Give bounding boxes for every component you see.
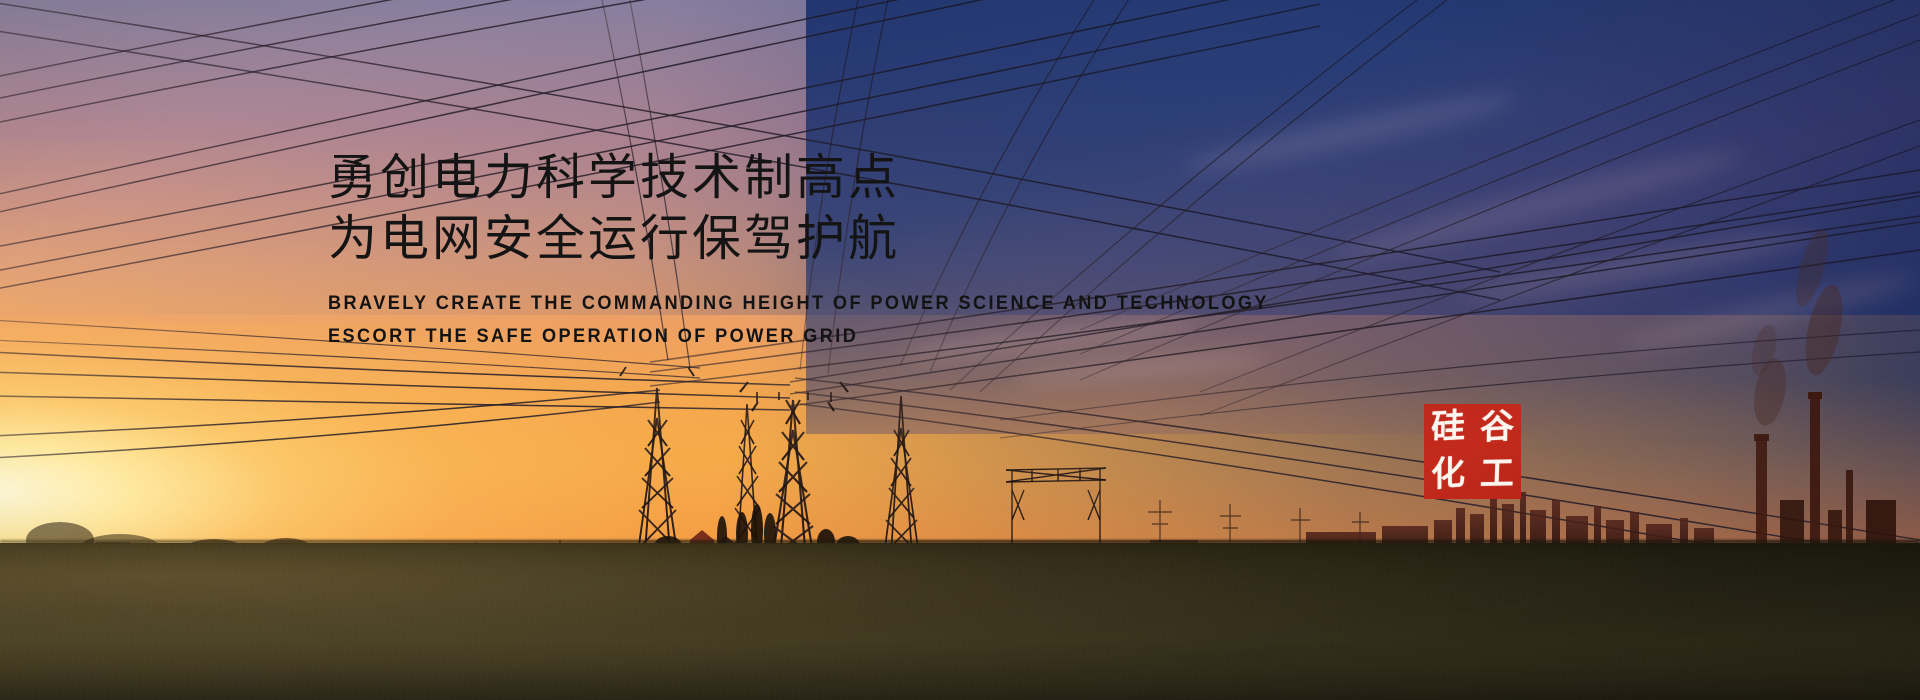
subheadline-line-2: ESCORT THE SAFE OPERATION OF POWER GRID [328, 320, 1332, 353]
horizon-line [0, 540, 1920, 543]
subheadline-block: BRAVELY CREATE THE COMMANDING HEIGHT OF … [328, 287, 1408, 353]
logo-char-1: 硅 [1431, 410, 1466, 446]
logo-character-grid: 硅 谷 化 工 [1424, 404, 1521, 499]
subheadline-line-1: BRAVELY CREATE THE COMMANDING HEIGHT OF … [328, 287, 1332, 320]
logo-char-2: 谷 [1479, 410, 1514, 446]
company-logo-stamp[interactable]: 硅 谷 化 工 [1424, 404, 1521, 499]
logo-char-4: 工 [1479, 458, 1514, 493]
field-ground [0, 543, 1920, 700]
logo-char-3: 化 [1431, 457, 1465, 494]
field-shading [0, 543, 1920, 700]
power-grid-hero-banner: 勇创电力科学技术制高点 为电网安全运行保驾护航 BRAVELY CREATE T… [0, 0, 1920, 700]
headline-line-2: 为电网安全运行保驾护航 [328, 209, 1408, 270]
banner-copy-block: 勇创电力科学技术制高点 为电网安全运行保驾护航 BRAVELY CREATE T… [328, 148, 1408, 353]
headline-line-1: 勇创电力科学技术制高点 [328, 148, 1408, 209]
